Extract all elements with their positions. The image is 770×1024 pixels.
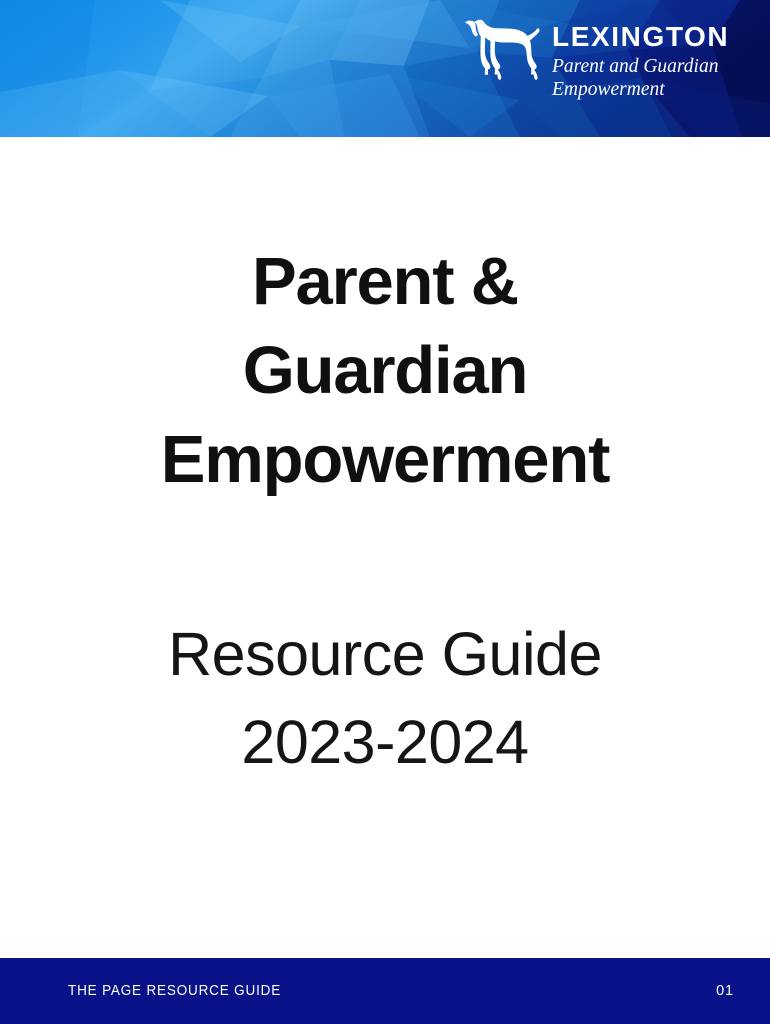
footer-label: THE PAGE RESOURCE GUIDE bbox=[68, 983, 281, 999]
header-banner: LEXINGTON Parent and Guardian Empowermen… bbox=[0, 0, 770, 137]
cover-title-line-2: Guardian bbox=[0, 326, 770, 415]
cover-subtitle-line-1: Resource Guide bbox=[0, 610, 770, 698]
logo-tagline: Parent and Guardian Empowerment bbox=[552, 55, 729, 101]
cover-title-block: Parent & Guardian Empowerment bbox=[0, 237, 770, 504]
logo-wordmark: LEXINGTON bbox=[552, 23, 729, 51]
logo-tagline-line-1: Parent and Guardian bbox=[552, 55, 729, 78]
lexington-logo: LEXINGTON Parent and Guardian Empowermen… bbox=[464, 14, 729, 101]
horse-icon bbox=[464, 18, 540, 80]
cover-main-content: Parent & Guardian Empowerment Resource G… bbox=[0, 137, 770, 958]
logo-tagline-line-2: Empowerment bbox=[552, 78, 729, 101]
cover-page: LEXINGTON Parent and Guardian Empowermen… bbox=[0, 0, 770, 1024]
cover-title-line-1: Parent & bbox=[0, 237, 770, 326]
cover-subtitle-block: Resource Guide 2023-2024 bbox=[0, 610, 770, 786]
logo-text-block: LEXINGTON Parent and Guardian Empowermen… bbox=[552, 14, 729, 101]
cover-subtitle-line-2: 2023-2024 bbox=[0, 698, 770, 786]
footer-page-number: 01 bbox=[716, 983, 734, 999]
cover-title-line-3: Empowerment bbox=[0, 415, 770, 504]
footer-bar: THE PAGE RESOURCE GUIDE 01 bbox=[0, 958, 770, 1024]
